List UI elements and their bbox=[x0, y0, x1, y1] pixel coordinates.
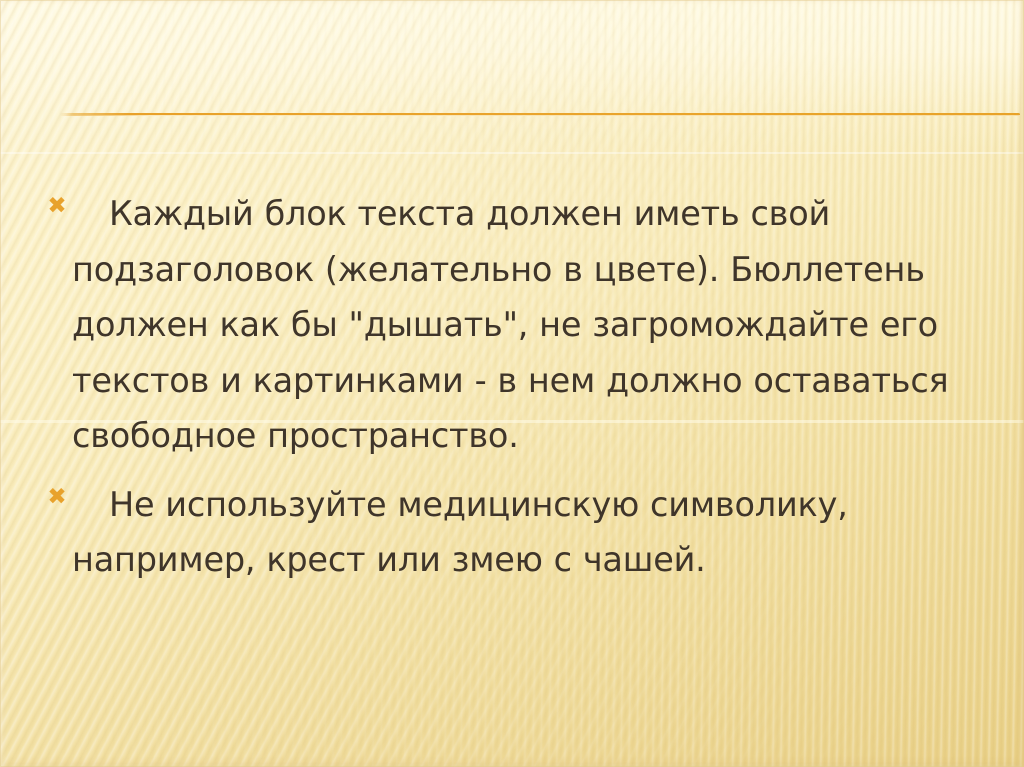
list-item-text: Каждый блок текста должен иметь свой под… bbox=[72, 186, 996, 464]
slide-background-band-upper bbox=[0, 152, 1024, 154]
cross-bullet-icon: ✖ bbox=[46, 486, 68, 508]
slide-body: ✖ Каждый блок текста должен иметь свой п… bbox=[0, 186, 1024, 595]
slide-canvas: ✖ Каждый блок текста должен иметь свой п… bbox=[0, 0, 1024, 767]
list-item: ✖ Не используйте медицинскую символику, … bbox=[0, 477, 1024, 588]
cross-bullet-icon: ✖ bbox=[46, 195, 68, 217]
list-item: ✖ Каждый блок текста должен иметь свой п… bbox=[0, 186, 1024, 464]
list-item-text: Не используйте медицинскую символику, на… bbox=[72, 477, 996, 588]
title-divider-rule bbox=[60, 113, 1020, 116]
